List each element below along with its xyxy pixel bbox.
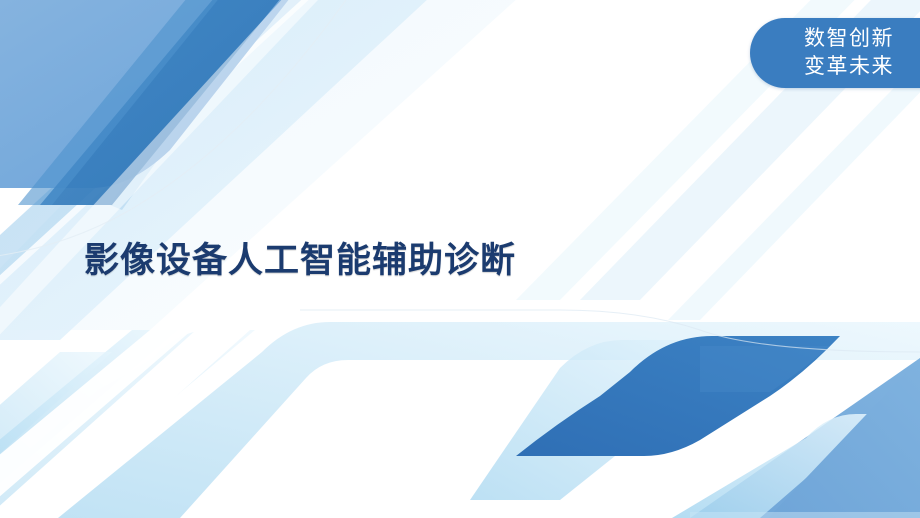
slide-title: 影像设备人工智能辅助诊断 <box>84 232 516 283</box>
slogan-line-1: 数智创新 <box>804 25 894 53</box>
slogan-badge: 数智创新 变革未来 <box>750 18 920 88</box>
presentation-slide: 数智创新 变革未来 影像设备人工智能辅助诊断 <box>0 0 920 518</box>
slogan-line-2: 变革未来 <box>804 53 894 81</box>
